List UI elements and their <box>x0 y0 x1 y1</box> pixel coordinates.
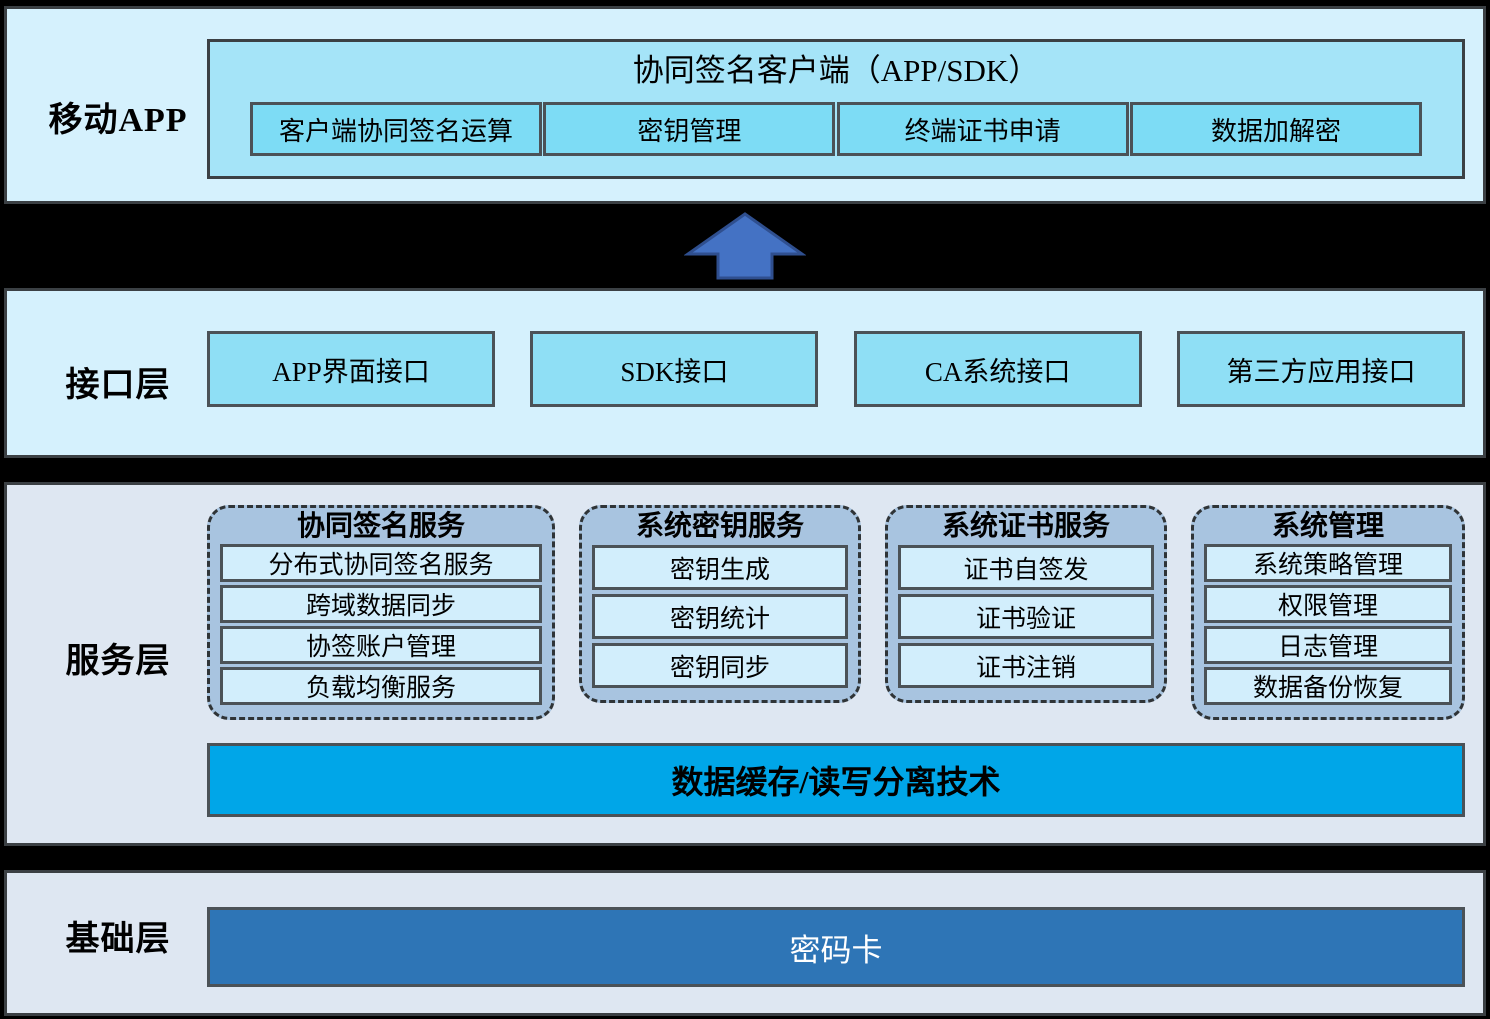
layer-label-mobile-app: 移动APP <box>33 104 203 138</box>
service-item-label: 协签账户管理 <box>306 627 456 663</box>
layer-service: 服务层 协同签名服务 分布式协同签名服务 跨域数据同步 协签账户管理 负载均衡服… <box>4 482 1486 846</box>
service-group-system-management: 系统管理 系统策略管理 权限管理 日志管理 数据备份恢复 <box>1191 505 1465 720</box>
up-arrow-icon <box>684 212 806 280</box>
service-item[interactable]: 分布式协同签名服务 <box>220 544 542 582</box>
service-item[interactable]: 证书自签发 <box>898 545 1154 590</box>
service-group-list: 协同签名服务 分布式协同签名服务 跨域数据同步 协签账户管理 负载均衡服务 系统… <box>207 505 1465 720</box>
service-item-label: 权限管理 <box>1278 586 1378 622</box>
layer-label-service: 服务层 <box>33 645 203 679</box>
service-group-title: 系统证书服务 <box>898 512 1154 541</box>
service-item-label: 系统策略管理 <box>1253 545 1403 581</box>
client-module-item[interactable]: 密钥管理 <box>543 102 835 156</box>
service-group-title: 系统管理 <box>1204 512 1452 541</box>
service-item[interactable]: 数据备份恢复 <box>1204 667 1452 705</box>
interface-item-sdk[interactable]: SDK接口 <box>530 331 818 407</box>
service-item[interactable]: 证书注销 <box>898 643 1154 688</box>
service-item-label: 跨域数据同步 <box>306 586 456 622</box>
service-item[interactable]: 协签账户管理 <box>220 626 542 664</box>
crypto-card-bar-label: 密码卡 <box>790 925 883 970</box>
client-module-label: 客户端协同签名运算 <box>279 111 513 148</box>
client-module-label: 密钥管理 <box>637 111 741 148</box>
service-item-label: 密钥统计 <box>670 599 770 635</box>
crypto-card-bar[interactable]: 密码卡 <box>207 907 1465 987</box>
service-item[interactable]: 跨域数据同步 <box>220 585 542 623</box>
service-item[interactable]: 权限管理 <box>1204 585 1452 623</box>
service-item-label: 分布式协同签名服务 <box>268 545 493 581</box>
service-item[interactable]: 密钥统计 <box>592 594 848 639</box>
client-module-item[interactable]: 数据加解密 <box>1130 102 1422 156</box>
service-group-title: 系统密钥服务 <box>592 512 848 541</box>
interface-item-label: CA系统接口 <box>925 350 1071 389</box>
client-module-label: 终端证书申请 <box>905 111 1061 148</box>
architecture-diagram: 移动APP 协同签名客户端（APP/SDK） 客户端协同签名运算 密钥管理 终端… <box>0 0 1490 1019</box>
service-item[interactable]: 系统策略管理 <box>1204 544 1452 582</box>
separator-band-lower <box>0 846 1490 870</box>
service-item-label: 数据备份恢复 <box>1253 668 1403 704</box>
service-item-label: 证书自签发 <box>963 550 1088 586</box>
service-item-label: 负载均衡服务 <box>306 668 456 704</box>
layer-base: 基础层 密码卡 <box>4 870 1486 1016</box>
service-group-collaborative-signing: 协同签名服务 分布式协同签名服务 跨域数据同步 协签账户管理 负载均衡服务 <box>207 505 555 720</box>
layer-label-base: 基础层 <box>33 923 203 957</box>
layer-label-interface: 接口层 <box>33 369 203 403</box>
service-item-label: 日志管理 <box>1278 627 1378 663</box>
service-item[interactable]: 负载均衡服务 <box>220 667 542 705</box>
collaborative-signing-client-box: 协同签名客户端（APP/SDK） 客户端协同签名运算 密钥管理 终端证书申请 数… <box>207 39 1465 179</box>
service-item[interactable]: 密钥生成 <box>592 545 848 590</box>
client-module-item[interactable]: 终端证书申请 <box>837 102 1129 156</box>
separator-band-upper <box>0 204 1490 288</box>
service-group-system-certificate: 系统证书服务 证书自签发 证书验证 证书注销 <box>885 505 1167 703</box>
service-item-label: 密钥同步 <box>670 648 770 684</box>
data-cache-bar-label: 数据缓存/读写分离技术 <box>672 757 1001 803</box>
service-group-system-key: 系统密钥服务 密钥生成 密钥统计 密钥同步 <box>579 505 861 703</box>
interface-item-ca-system[interactable]: CA系统接口 <box>854 331 1142 407</box>
client-module-list: 客户端协同签名运算 密钥管理 终端证书申请 数据加解密 <box>210 102 1462 156</box>
client-module-item[interactable]: 客户端协同签名运算 <box>250 102 542 156</box>
service-item-label: 证书注销 <box>976 648 1076 684</box>
service-group-title: 协同签名服务 <box>220 512 542 541</box>
service-item[interactable]: 密钥同步 <box>592 643 848 688</box>
interface-item-label: SDK接口 <box>620 350 728 389</box>
service-item[interactable]: 日志管理 <box>1204 626 1452 664</box>
service-item[interactable]: 证书验证 <box>898 594 1154 639</box>
interface-item-app-ui[interactable]: APP界面接口 <box>207 331 495 407</box>
interface-item-label: 第三方应用接口 <box>1226 350 1415 389</box>
layer-interface: 接口层 APP界面接口 SDK接口 CA系统接口 第三方应用接口 <box>4 288 1486 458</box>
interface-item-third-party[interactable]: 第三方应用接口 <box>1177 331 1465 407</box>
data-cache-bar[interactable]: 数据缓存/读写分离技术 <box>207 743 1465 817</box>
interface-item-list: APP界面接口 SDK接口 CA系统接口 第三方应用接口 <box>207 331 1465 407</box>
layer-mobile-app: 移动APP 协同签名客户端（APP/SDK） 客户端协同签名运算 密钥管理 终端… <box>4 6 1486 204</box>
interface-item-label: APP界面接口 <box>272 350 430 389</box>
client-module-label: 数据加解密 <box>1211 111 1341 148</box>
client-box-title: 协同签名客户端（APP/SDK） <box>210 52 1462 89</box>
service-item-label: 证书验证 <box>976 599 1076 635</box>
service-item-label: 密钥生成 <box>670 550 770 586</box>
